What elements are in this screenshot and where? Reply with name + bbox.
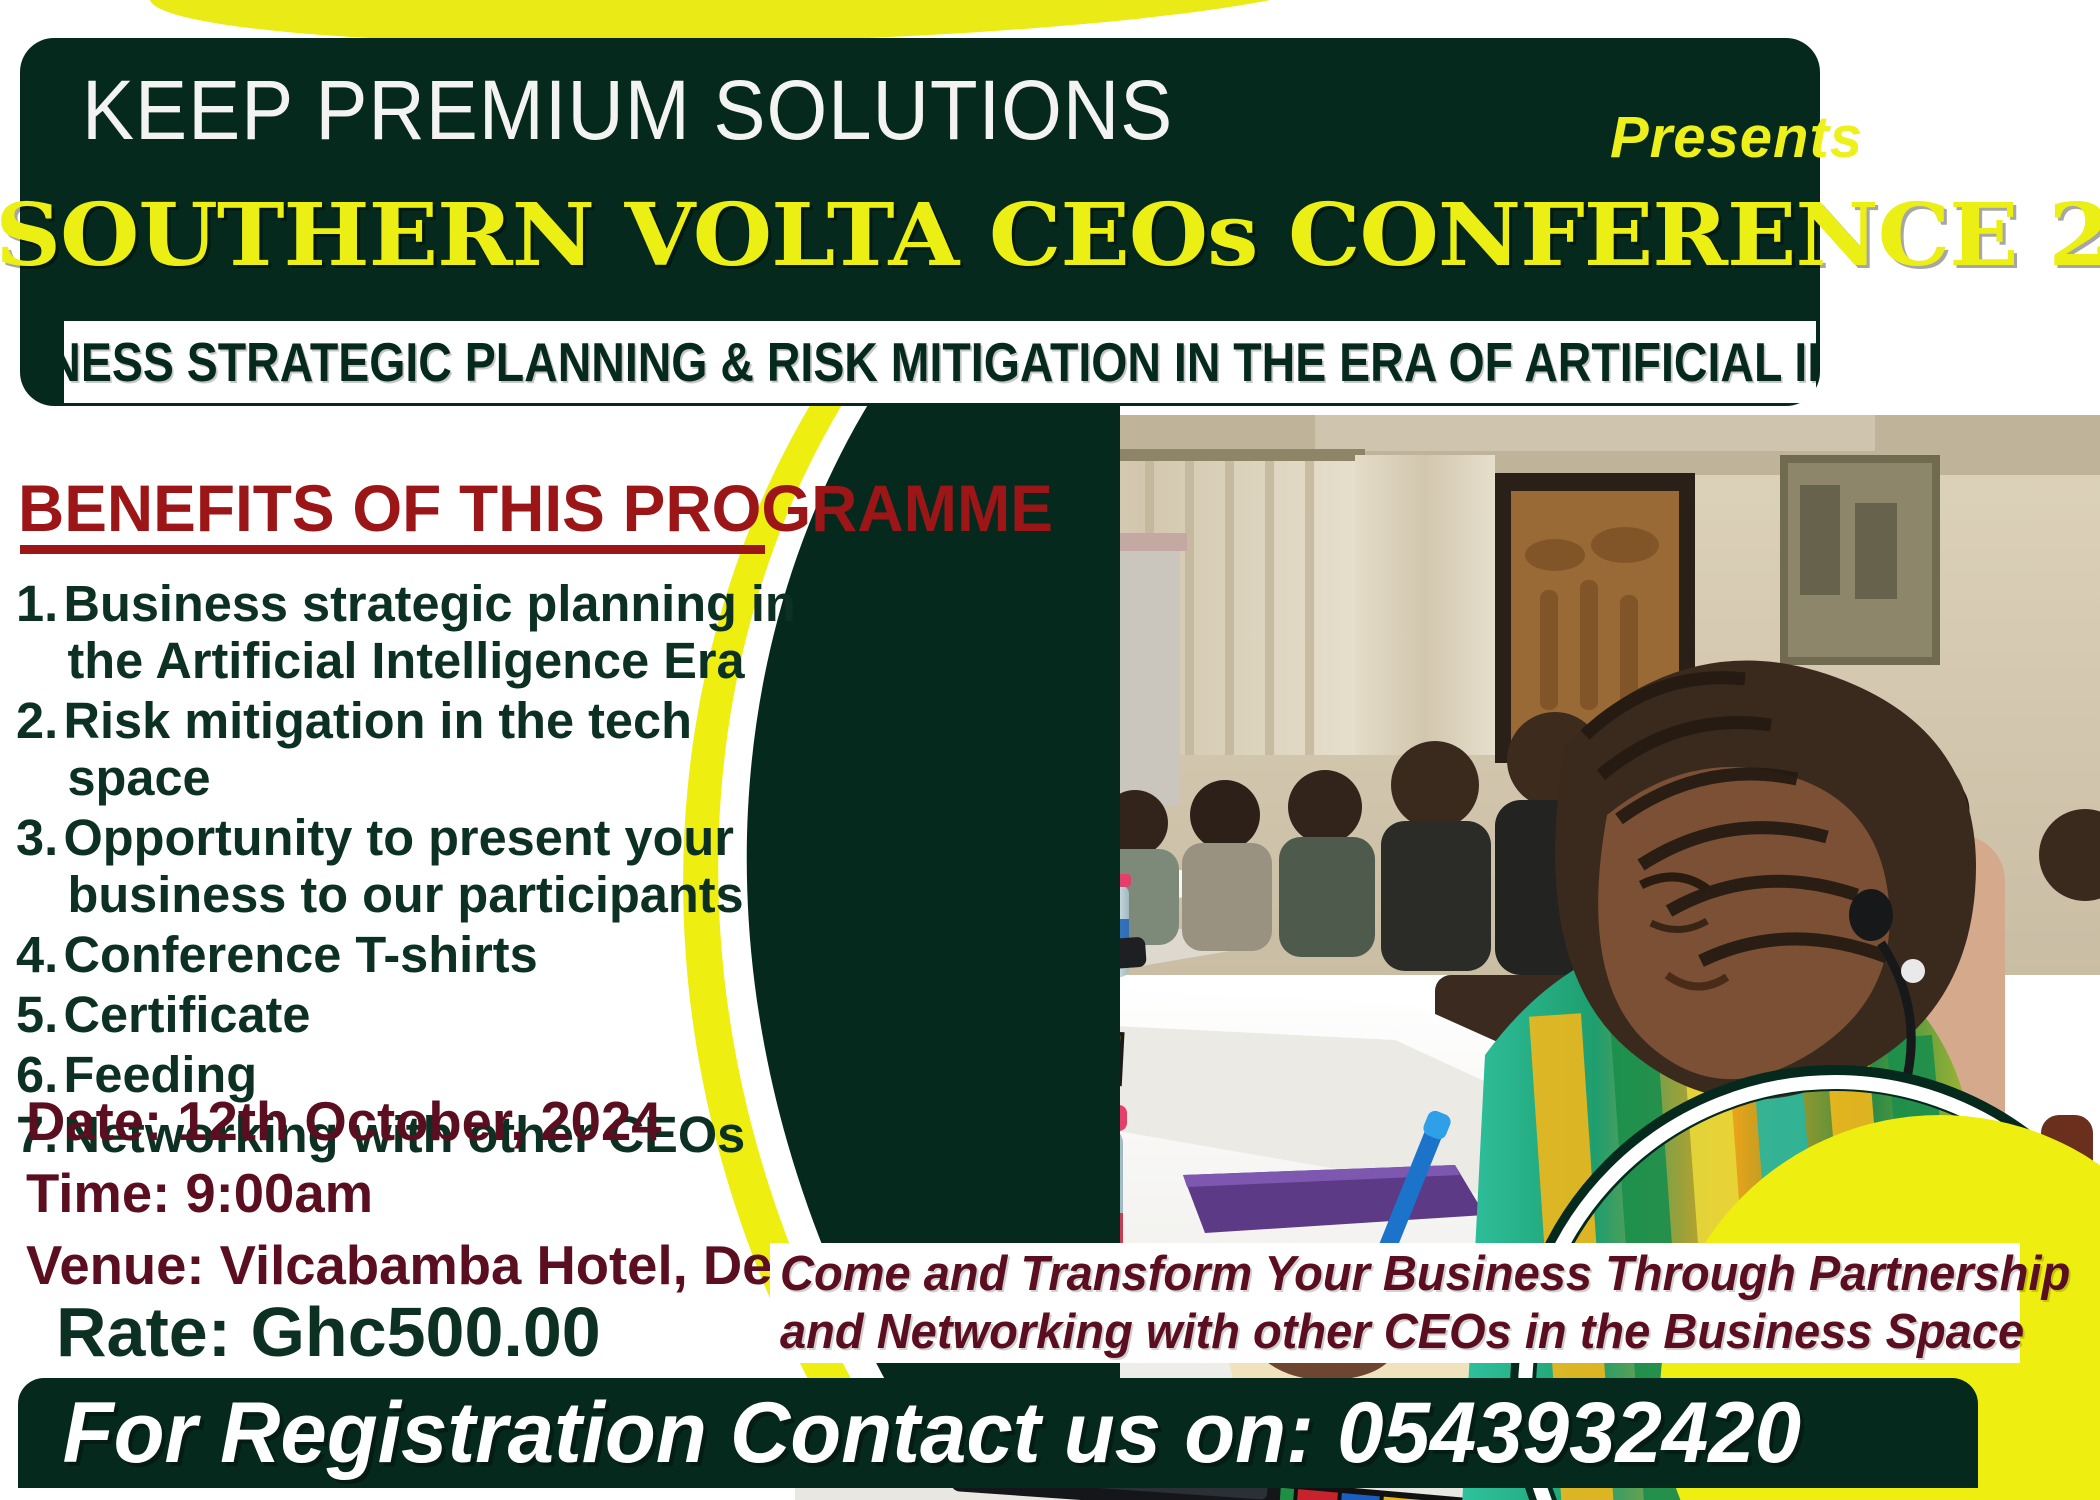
benefit-text: Conference T-shirts	[64, 926, 538, 983]
benefit-number: 3.	[16, 809, 64, 866]
page-title: SOUTHERN VOLTA CEOs CONFERENCE 2024	[0, 188, 1861, 284]
event-details: Date: 12th October, 2024 Time: 9:00am Ve…	[26, 1085, 847, 1301]
benefits-heading-rule	[20, 545, 765, 554]
theme-banner: THEME: BUSINESS STRATEGIC PLANNING & RIS…	[64, 321, 1816, 403]
benefit-text: Risk mitigation in the tech space	[64, 692, 692, 806]
theme-text: THEME: BUSINESS STRATEGIC PLANNING & RIS…	[64, 330, 1816, 394]
tagline-box: Come and Transform Your Business Through…	[770, 1243, 2020, 1363]
company-name: KEEP PREMIUM SOLUTIONS	[82, 64, 1173, 156]
event-time: Time: 9:00am	[26, 1157, 839, 1229]
event-venue: Venue: Vilcabamba Hotel, Denu	[26, 1229, 839, 1301]
benefit-text: Opportunity to present your business to …	[64, 809, 744, 923]
event-rate: Rate: Ghc500.00	[56, 1295, 601, 1369]
benefits-heading: BENEFITS OF THIS PROGRAMME	[18, 470, 1053, 546]
benefit-item: 5.Certificate	[16, 986, 798, 1043]
presents-label: Presents	[1610, 104, 1863, 171]
header-block: KEEP PREMIUM SOLUTIONS Presents SOUTHERN…	[20, 38, 1820, 406]
registration-text: For Registration Contact us on: 05439324…	[18, 1384, 1801, 1483]
benefit-number: 2.	[16, 692, 64, 749]
registration-banner: For Registration Contact us on: 05439324…	[18, 1378, 1978, 1488]
benefit-item: 4.Conference T-shirts	[16, 926, 798, 983]
benefit-item: 1.Business strategic planning in the Art…	[16, 575, 798, 689]
benefit-item: 2.Risk mitigation in the tech space	[16, 692, 798, 806]
benefits-list: 1.Business strategic planning in the Art…	[16, 575, 806, 1166]
benefit-item: 3.Opportunity to present your business t…	[16, 809, 798, 923]
event-date: Date: 12th October, 2024	[26, 1085, 839, 1157]
benefit-number: 1.	[16, 575, 64, 632]
benefit-number: 5.	[16, 986, 64, 1043]
tagline-line-1: Come and Transform Your Business Through…	[780, 1245, 1970, 1303]
tagline-line-2: and Networking with other CEOs in the Bu…	[780, 1303, 1970, 1361]
benefit-number: 4.	[16, 926, 64, 983]
benefit-text: Business strategic planning in the Artif…	[64, 575, 796, 689]
flyer-poster: KEEP PREMIUM SOLUTIONS Presents SOUTHERN…	[0, 0, 2100, 1500]
benefit-text: Certificate	[64, 986, 311, 1043]
